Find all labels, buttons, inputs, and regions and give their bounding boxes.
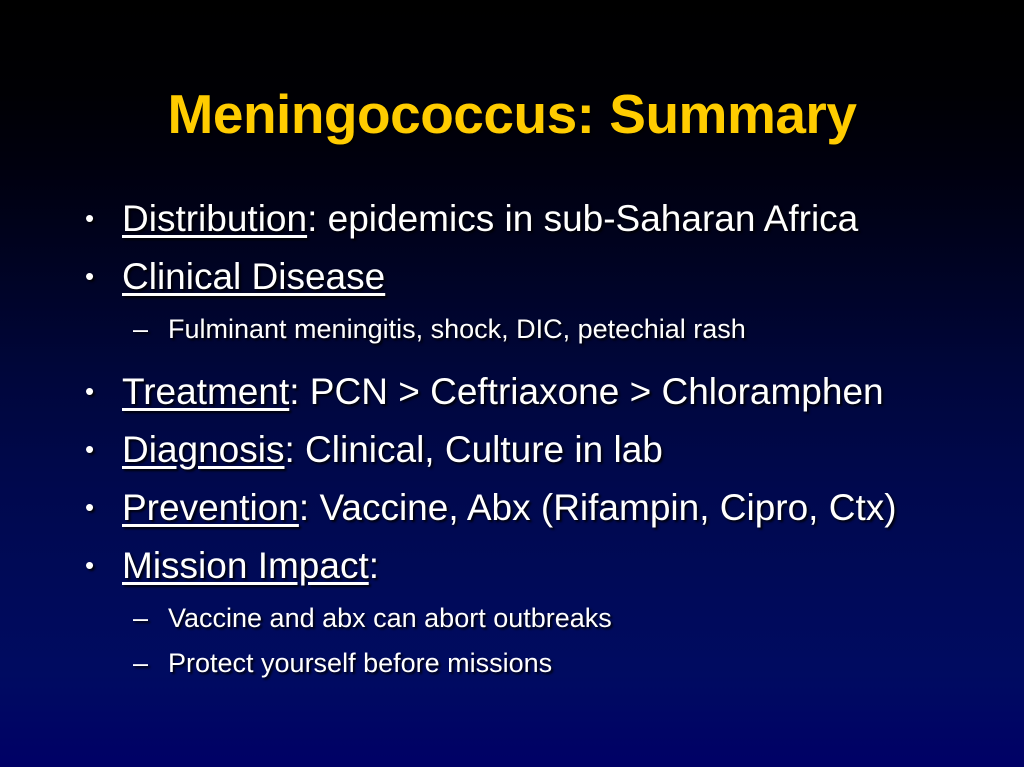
bullet-text: Diagnosis: Clinical, Culture in lab (122, 421, 663, 478)
bullet-text: Distribution: epidemics in sub-Saharan A… (122, 190, 858, 247)
sub-bullet-dash-icon: – (133, 641, 168, 686)
bullet-rest: : Vaccine, Abx (Rifampin, Cipro, Ctx) (299, 487, 897, 528)
bullet-rest: : Clinical, Culture in lab (284, 429, 662, 470)
bullet-rest: : (369, 545, 379, 586)
bullet-item-treatment: • Treatment: PCN > Ceftriaxone > Chloram… (78, 363, 1008, 420)
bullet-marker-icon: • (78, 363, 122, 420)
bullet-text: Mission Impact: (122, 537, 379, 594)
bullet-text: Clinical Disease (122, 248, 385, 305)
bullet-keyword: Distribution (122, 198, 307, 239)
sub-bullet-dash-icon: – (133, 307, 168, 352)
bullet-item-diagnosis: • Diagnosis: Clinical, Culture in lab (78, 421, 1008, 478)
bullet-item-distribution: • Distribution: epidemics in sub-Saharan… (78, 190, 1008, 247)
bullet-keyword: Prevention (122, 487, 299, 528)
sub-bullet-item-fulminant: – Fulminant meningitis, shock, DIC, pete… (78, 307, 1008, 352)
bullet-item-clinical-disease: • Clinical Disease (78, 248, 1008, 305)
sub-bullet-text: Vaccine and abx can abort outbreaks (168, 596, 612, 641)
bullet-keyword: Diagnosis (122, 429, 284, 470)
sub-bullet-item-vaccine-abx: – Vaccine and abx can abort outbreaks (78, 596, 1008, 641)
bullet-marker-icon: • (78, 421, 122, 478)
bullet-marker-icon: • (78, 537, 122, 594)
bullet-text: Prevention: Vaccine, Abx (Rifampin, Cipr… (122, 479, 897, 536)
sub-bullet-text: Protect yourself before missions (168, 641, 552, 686)
bullet-marker-icon: • (78, 479, 122, 536)
bullet-item-mission-impact: • Mission Impact: (78, 537, 1008, 594)
bullet-marker-icon: • (78, 248, 122, 305)
bullet-rest: : epidemics in sub-Saharan Africa (307, 198, 858, 239)
sub-bullet-text: Fulminant meningitis, shock, DIC, petech… (168, 307, 746, 352)
bullet-keyword: Mission Impact (122, 545, 369, 586)
slide-title: Meningococcus: Summary (0, 83, 1024, 145)
sub-bullet-dash-icon: – (133, 596, 168, 641)
sub-bullet-item-protect-yourself: – Protect yourself before missions (78, 641, 1008, 686)
bullet-keyword: Clinical Disease (122, 256, 385, 297)
bullet-item-prevention: • Prevention: Vaccine, Abx (Rifampin, Ci… (78, 479, 1008, 536)
slide-body-bullet-list: • Distribution: epidemics in sub-Saharan… (78, 190, 1008, 686)
bullet-text: Treatment: PCN > Ceftriaxone > Chloramph… (122, 363, 884, 420)
bullet-marker-icon: • (78, 190, 122, 247)
presentation-slide: Meningococcus: Summary • Distribution: e… (0, 0, 1024, 767)
bullet-keyword: Treatment (122, 371, 289, 412)
bullet-rest: : PCN > Ceftriaxone > Chloramphen (289, 371, 883, 412)
